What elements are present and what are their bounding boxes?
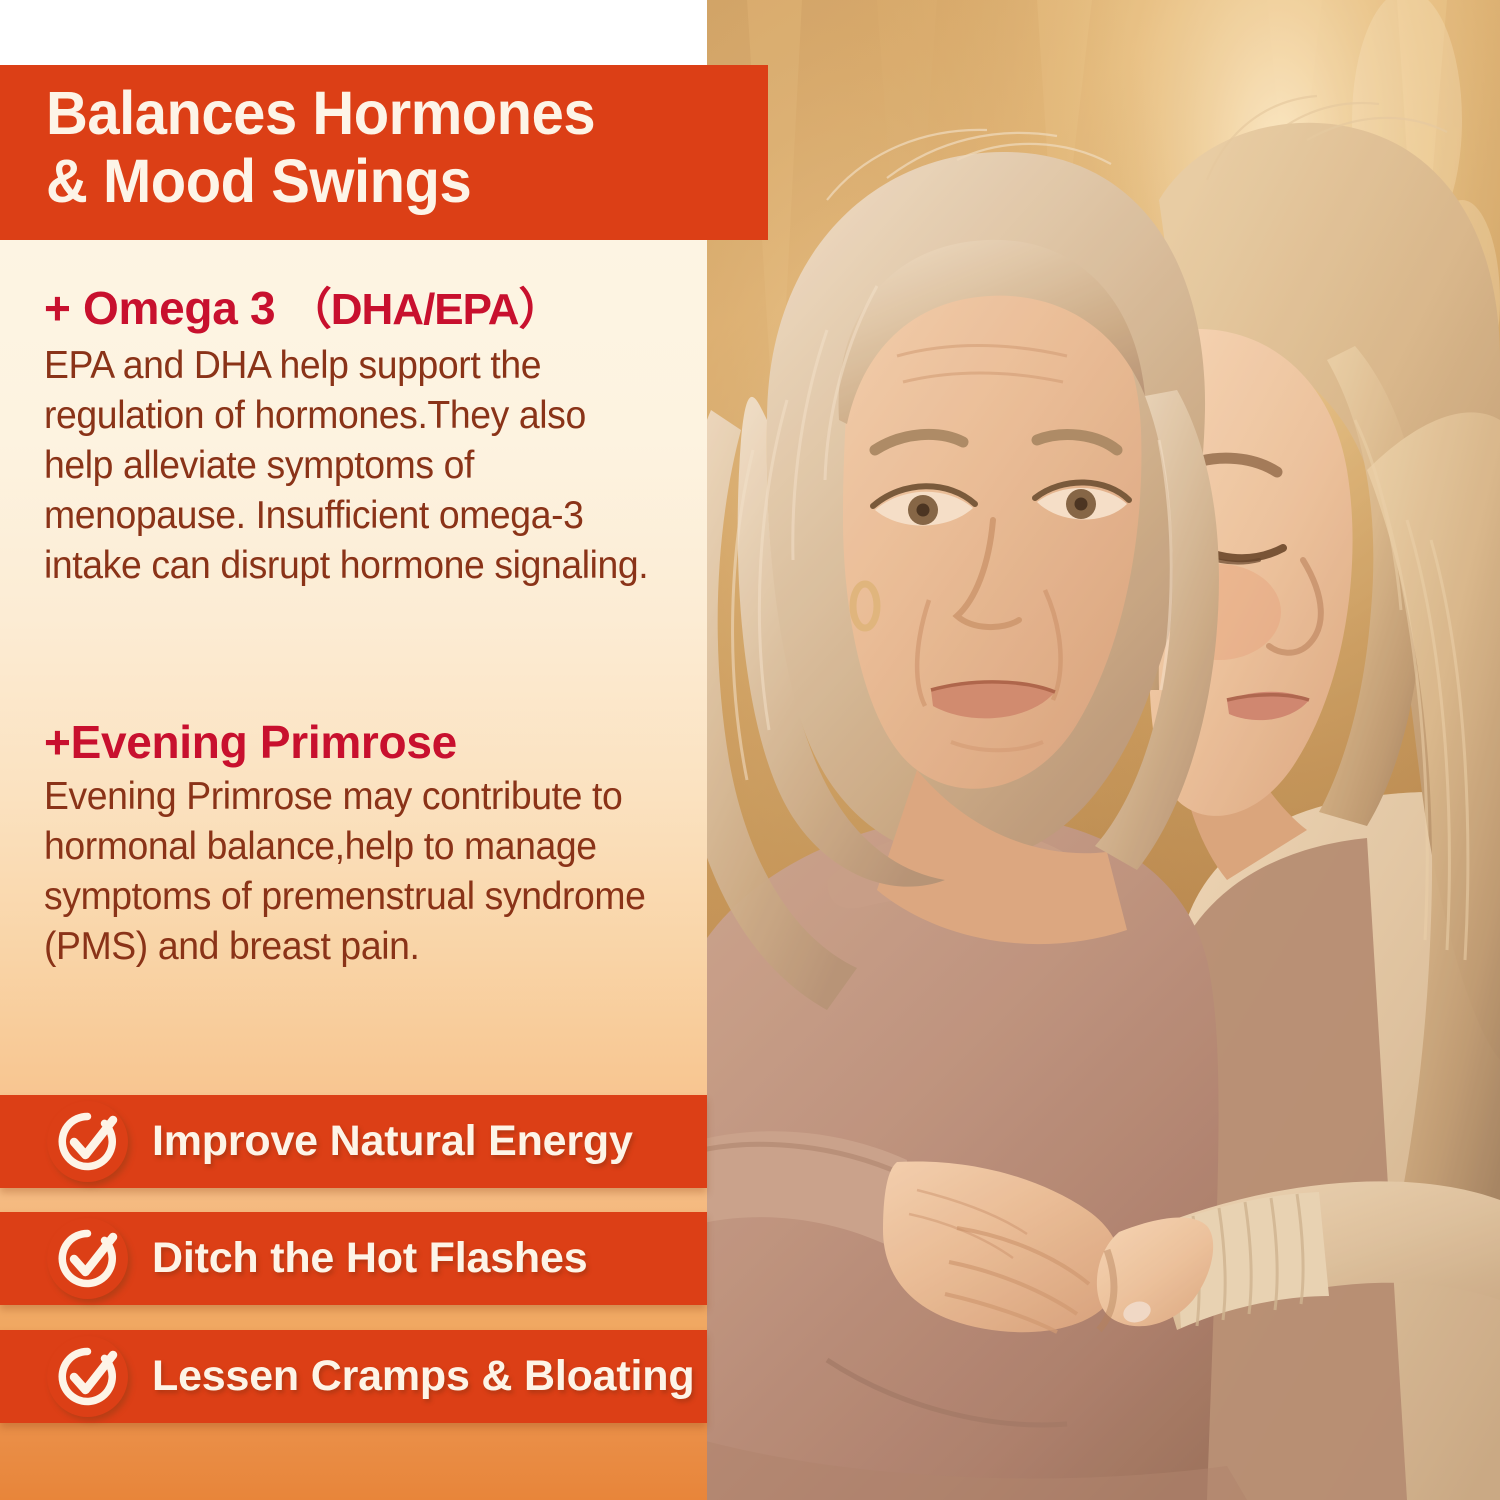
section-evening-primrose-body: Evening Primrose may contribute to hormo… [44,772,675,972]
benefit-row: Lessen Cramps & Bloating [0,1330,707,1423]
lifestyle-photo [707,0,1500,1500]
check-circle-icon [47,1218,128,1299]
benefit-row: Improve Natural Energy [0,1095,707,1188]
check-circle-icon [47,1336,128,1417]
promo-infographic: Balances Hormones & Mood Swings + Omega … [0,0,1500,1500]
section-omega-3-heading-prefix: + Omega 3 [44,282,275,334]
header-banner: Balances Hormones & Mood Swings [0,65,768,240]
section-evening-primrose: +Evening Primrose Evening Primrose may c… [44,716,699,972]
ingredient-sections: + Omega 3 （DHA/EPA） EPA and DHA help sup… [0,238,707,1500]
section-omega-3-body: EPA and DHA help support the regulation … [44,341,665,591]
section-omega-3-heading: + Omega 3 （DHA/EPA） [44,282,699,336]
benefit-label: Lessen Cramps & Bloating [152,1330,694,1423]
check-circle-icon [47,1101,128,1182]
section-omega-3: + Omega 3 （DHA/EPA） EPA and DHA help sup… [44,282,699,591]
section-omega-3-heading-paren: （DHA/EPA） [288,285,562,334]
benefit-row: Ditch the Hot Flashes [0,1212,707,1305]
page-title: Balances Hormones & Mood Swings [46,79,711,215]
benefit-label: Ditch the Hot Flashes [152,1212,587,1305]
section-evening-primrose-heading: +Evening Primrose [44,716,699,768]
benefit-label: Improve Natural Energy [152,1095,633,1188]
